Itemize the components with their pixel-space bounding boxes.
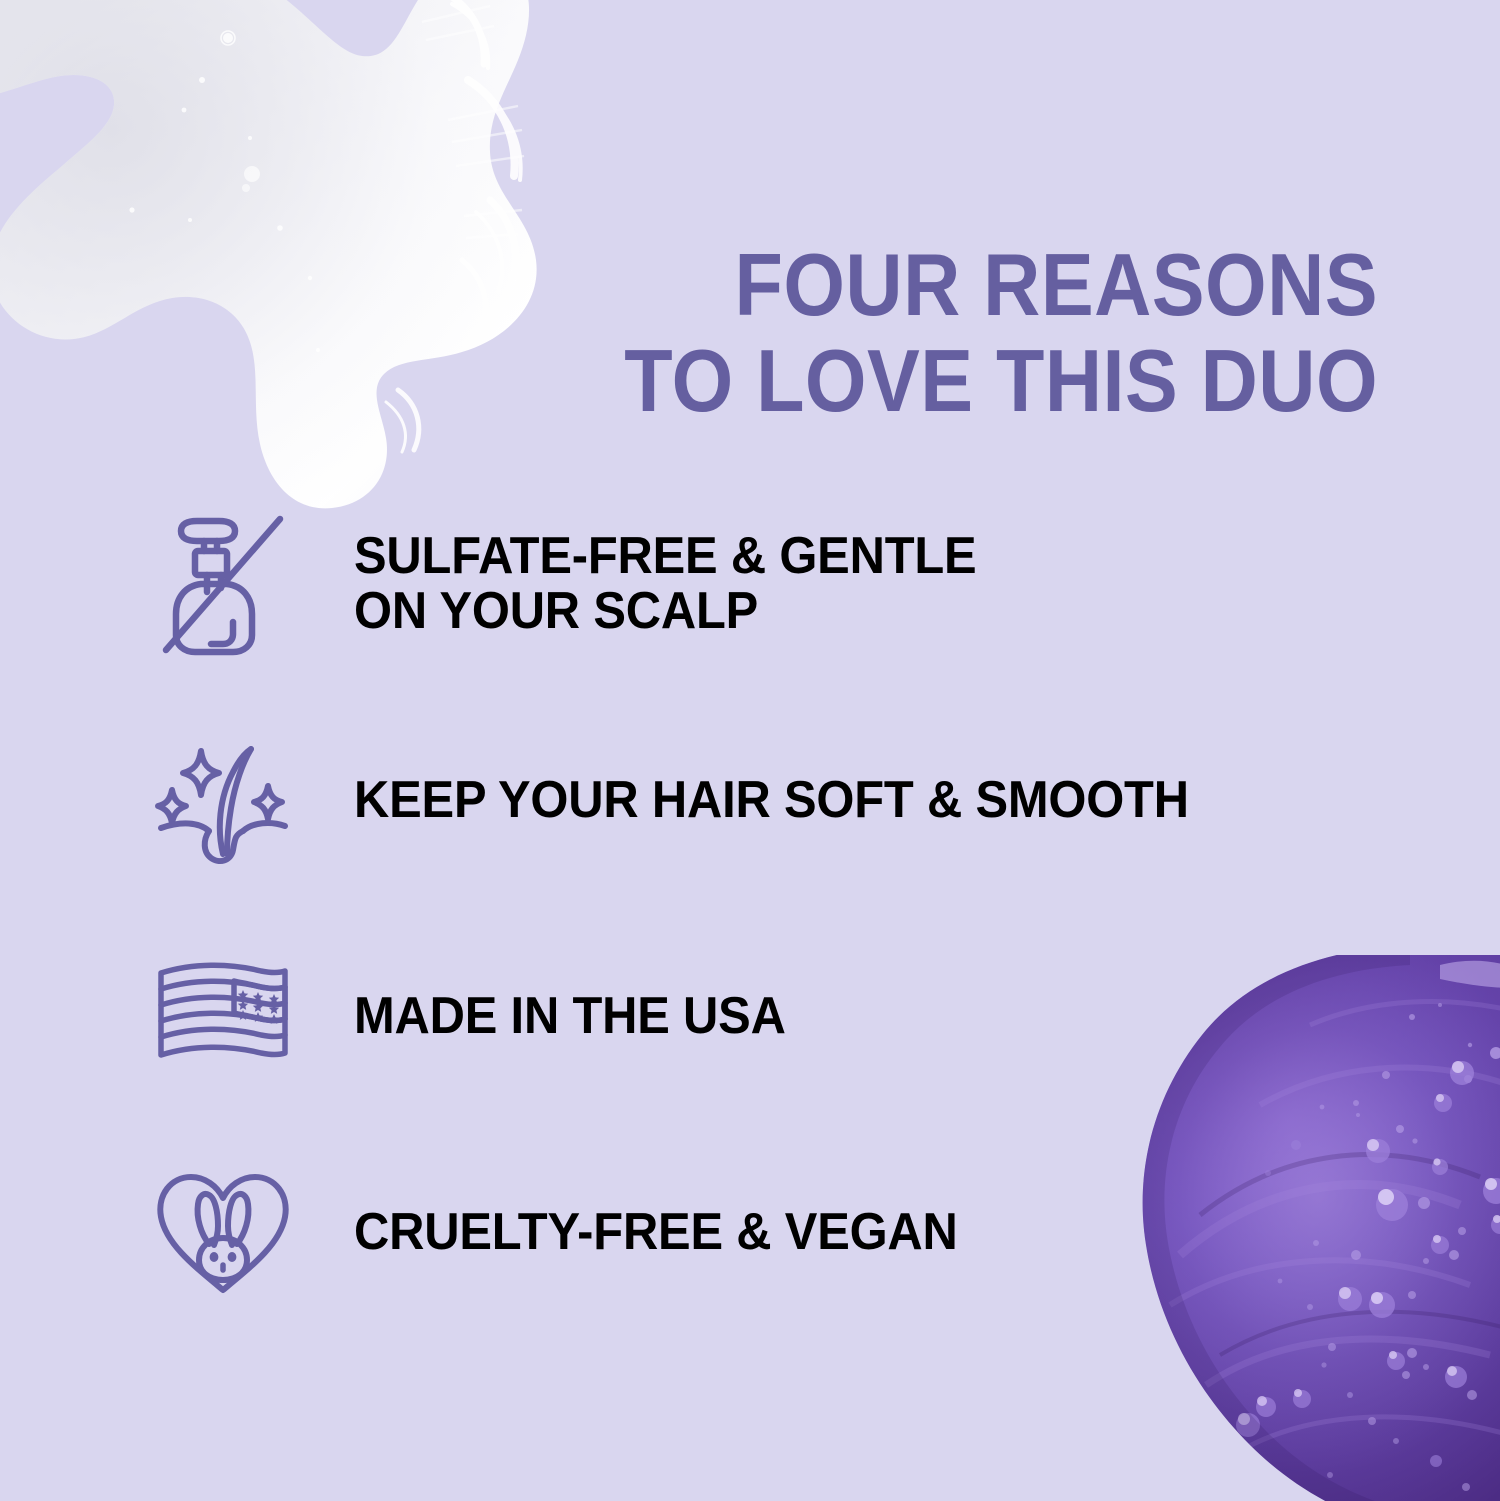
poster-canvas: FOUR REASONS TO LOVE THIS DUO — [0, 0, 1500, 1501]
feature-label-line: KEEP YOUR HAIR SOFT & SMOOTH — [354, 773, 1189, 828]
feature-row-cruelty-free: CRUELTY-FREE & VEGAN — [0, 1124, 1500, 1340]
headline-line-1: FOUR REASONS — [525, 237, 1378, 333]
page-title: FOUR REASONS TO LOVE THIS DUO — [525, 237, 1378, 429]
bunny-heart-icon — [128, 1152, 318, 1312]
white-liquid-blob — [0, 0, 590, 520]
feature-label-made-in-usa: MADE IN THE USA — [354, 989, 786, 1044]
feature-row-soft-smooth: KEEP YOUR HAIR SOFT & SMOOTH — [0, 692, 1500, 908]
usa-flag-icon — [128, 936, 318, 1096]
feature-label-line: SULFATE-FREE & GENTLE — [354, 529, 976, 584]
feature-label-soft-smooth: KEEP YOUR HAIR SOFT & SMOOTH — [354, 773, 1189, 828]
feature-row-sulfate-free: SULFATE-FREE & GENTLE ON YOUR SCALP — [0, 476, 1500, 692]
feature-row-made-in-usa: MADE IN THE USA — [0, 908, 1500, 1124]
feature-label-line: CRUELTY-FREE & VEGAN — [354, 1205, 958, 1260]
feature-label-cruelty-free: CRUELTY-FREE & VEGAN — [354, 1205, 958, 1260]
shiny-hair-follicle-icon — [128, 720, 318, 880]
headline-line-2: TO LOVE THIS DUO — [525, 333, 1378, 429]
no-pump-bottle-icon — [128, 504, 318, 664]
feature-label-sulfate-free: SULFATE-FREE & GENTLE ON YOUR SCALP — [354, 529, 976, 639]
feature-label-line: MADE IN THE USA — [354, 989, 786, 1044]
feature-label-line: ON YOUR SCALP — [354, 584, 976, 639]
feature-list: SULFATE-FREE & GENTLE ON YOUR SCALP — [0, 476, 1500, 1340]
